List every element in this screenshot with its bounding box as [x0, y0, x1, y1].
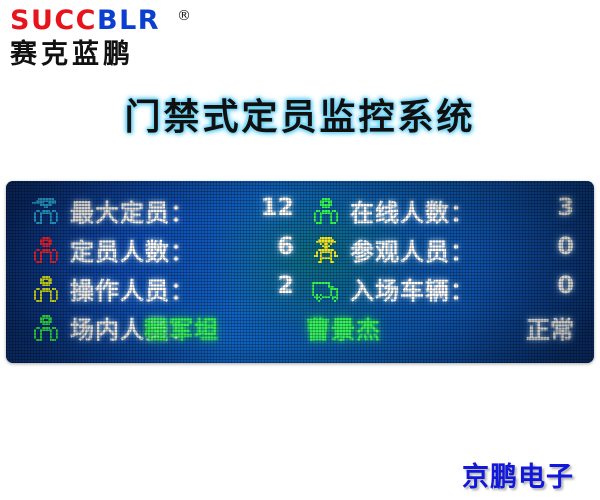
status-badge: 正常: [526, 310, 574, 345]
led-value: 0: [557, 271, 574, 299]
led-row-assigned-count: 定员人数： 6: [26, 232, 300, 270]
person-icon: [30, 313, 62, 345]
brand-logo: SUCCBLR ® 赛克蓝鹏: [10, 6, 200, 76]
truck-icon: [310, 274, 342, 306]
footer-company-mark: 京鹏电子: [462, 455, 574, 494]
brand-wordmark: SUCCBLR: [10, 6, 200, 36]
brand-chinese-name: 赛克蓝鹏: [10, 38, 200, 72]
led-column-left: 最大定员： 12 定员人数： 6: [26, 191, 300, 353]
led-row-vehicles: 入场车辆： 0: [306, 271, 580, 309]
led-value: 0: [557, 232, 574, 260]
led-value: 2: [277, 271, 294, 299]
brand-wordmark-red: SUCC: [10, 5, 97, 36]
person-icon: [30, 235, 62, 267]
led-column-right: 在线人数： 3 参观人员：: [306, 191, 580, 353]
onsite-name-1: 程军坦: [144, 310, 219, 345]
led-row-online-count: 在线人数： 3: [306, 193, 580, 231]
led-display-panel: 最大定员： 12 定员人数： 6: [6, 181, 594, 363]
person-icon: [310, 196, 342, 228]
brand-wordmark-blue: BLR: [97, 5, 160, 36]
led-label: 参观人员：: [350, 232, 475, 267]
page-title: 门禁式定员监控系统: [0, 88, 600, 140]
led-value: 3: [557, 193, 574, 221]
visitor-with-hat-icon: [310, 235, 342, 267]
led-label: 操作人员：: [70, 271, 195, 306]
worker-with-cap-icon: [30, 196, 62, 228]
led-row-visitors: 参观人员： 0: [306, 232, 580, 270]
led-label: 最大定员：: [70, 193, 195, 228]
led-value: 12: [261, 193, 294, 221]
onsite-name-2: 曹景杰: [306, 310, 381, 345]
led-row-onsite-continued: 曹景杰 正常: [306, 310, 580, 348]
registered-trademark-icon: ®: [177, 8, 191, 24]
led-label: 在线人数：: [350, 193, 475, 228]
led-row-onsite-personnel: 场内人员： 程军坦: [26, 310, 300, 348]
person-icon: [30, 274, 62, 306]
led-value: 6: [277, 232, 294, 260]
led-label: 入场车辆：: [350, 271, 475, 306]
led-row-max-capacity: 最大定员： 12: [26, 193, 300, 231]
led-label: 定员人数：: [70, 232, 195, 267]
led-row-operators: 操作人员： 2: [26, 271, 300, 309]
